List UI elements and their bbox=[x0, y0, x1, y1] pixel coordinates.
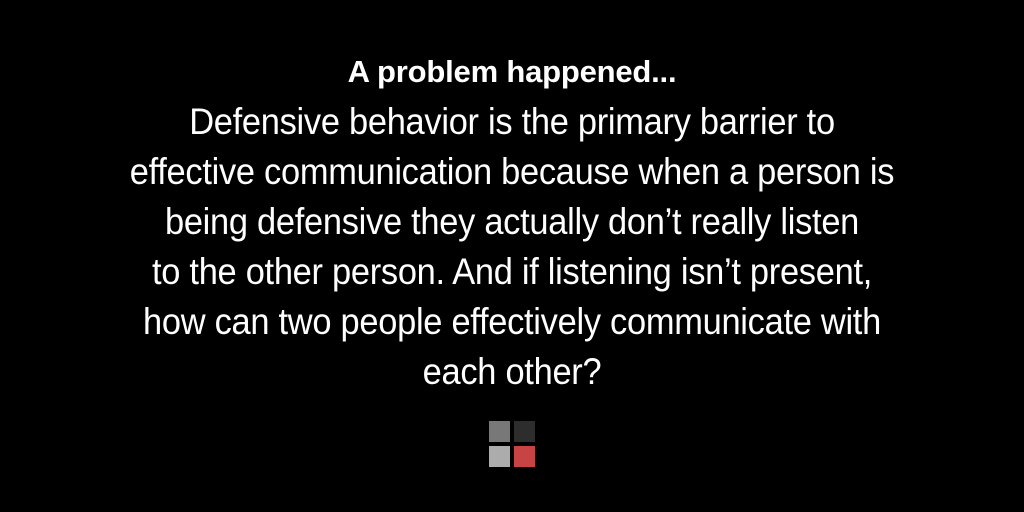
logo-square-top-left bbox=[489, 421, 510, 442]
quote-block: A problem happened... Defensive behavior… bbox=[32, 0, 992, 397]
quote-body-line: being defensive they actually don’t real… bbox=[66, 197, 959, 247]
quote-body-line: to the other person. And if listening is… bbox=[66, 247, 959, 297]
quote-body-line: Defensive behavior is the primary barrie… bbox=[66, 97, 959, 147]
quote-body-line: effective communication because when a p… bbox=[66, 147, 959, 197]
quote-card: A problem happened... Defensive behavior… bbox=[0, 0, 1024, 512]
logo-square-bottom-right bbox=[514, 446, 535, 467]
four-square-logo-icon bbox=[489, 421, 536, 467]
logo-square-bottom-left bbox=[489, 446, 510, 467]
quote-body: Defensive behavior is the primary barrie… bbox=[32, 97, 992, 397]
quote-body-line: each other? bbox=[66, 347, 959, 397]
logo-square-top-right bbox=[514, 421, 535, 442]
page-title: A problem happened... bbox=[32, 0, 992, 97]
quote-body-line: how can two people effectively communica… bbox=[66, 297, 959, 347]
